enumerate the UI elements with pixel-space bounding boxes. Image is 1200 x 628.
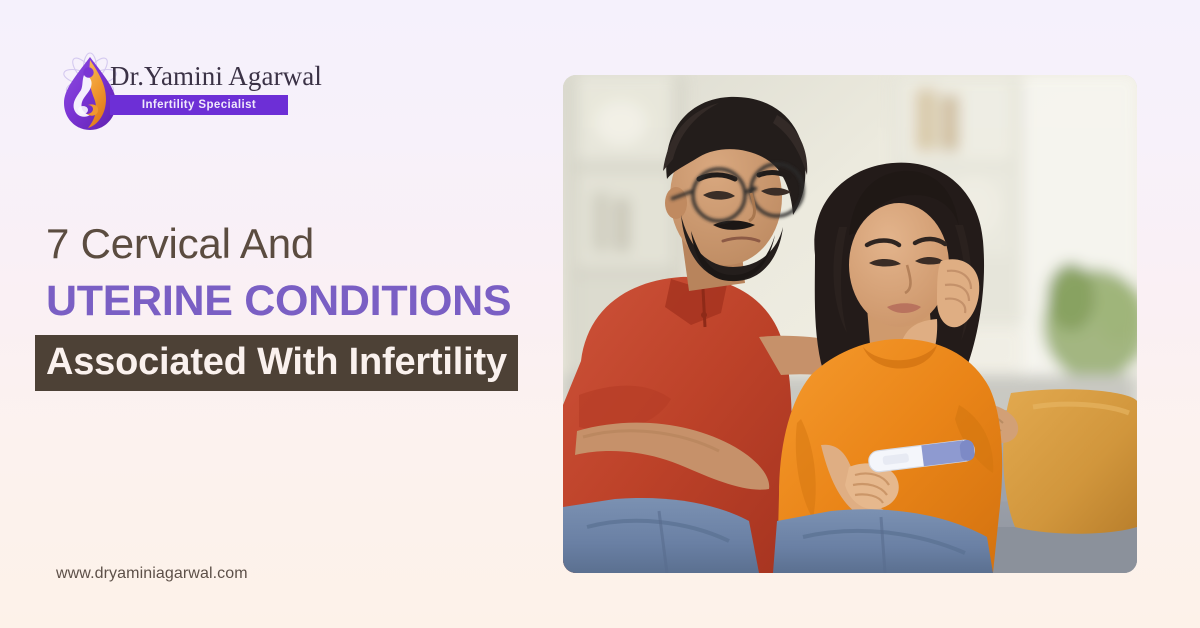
headline-line-2: UTERINE CONDITIONS: [46, 272, 566, 330]
brand-tagline-band: Infertility Specialist: [110, 95, 288, 115]
website-url[interactable]: www.dryaminiagarwal.com: [56, 565, 248, 583]
headline-highlight-band: Associated With Infertility: [35, 335, 518, 391]
brand-name: Dr.Yamini Agarwal: [110, 60, 306, 92]
headline: 7 Cervical And UTERINE CONDITIONS Associ…: [46, 216, 566, 391]
couple-photo: [563, 75, 1137, 573]
headline-line-1: 7 Cervical And: [46, 216, 566, 272]
brand-logo[interactable]: Dr.Yamini Agarwal Infertility Specialist: [44, 48, 304, 140]
headline-line-3: Associated With Infertility: [46, 341, 507, 383]
brand-logo-text: Dr.Yamini Agarwal Infertility Specialist: [110, 60, 306, 115]
blog-banner: Dr.Yamini Agarwal Infertility Specialist…: [0, 0, 1200, 628]
brand-tagline: Infertility Specialist: [142, 99, 256, 111]
